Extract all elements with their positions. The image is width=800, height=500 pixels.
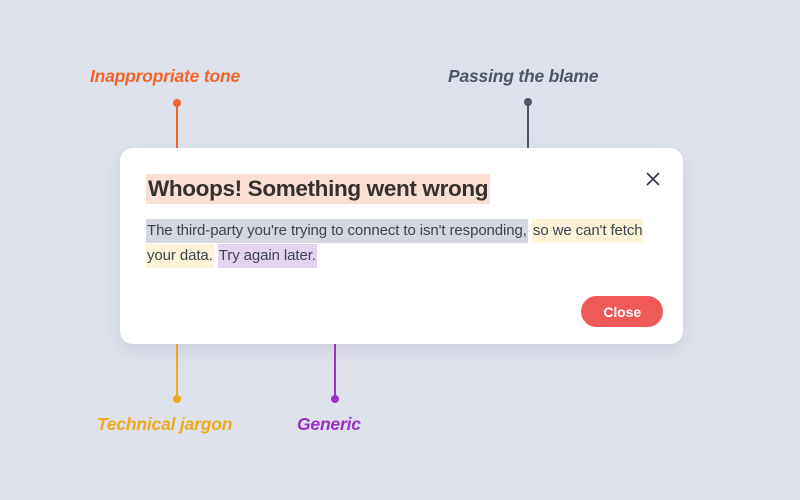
error-dialog-card: Whoops! Something went wrong The third-p… <box>120 148 683 344</box>
body-clause-slate: The third-party you're trying to connect… <box>146 219 528 243</box>
annotation-label-passing-the-blame: Passing the blame <box>448 66 598 87</box>
dialog-body: The third-party you're trying to connect… <box>146 218 656 268</box>
annotation-label-inappropriate-tone: Inappropriate tone <box>90 66 240 87</box>
annotation-label-generic: Generic <box>297 414 361 435</box>
dialog-title-text: Whoops! Something went wrong <box>146 174 490 204</box>
body-clause-purple: Try again later. <box>218 244 317 268</box>
connector-dot-top <box>173 99 181 107</box>
connector-dot-bottom <box>331 395 339 403</box>
annotated-dialog-illustration: Inappropriate tone Passing the blame Tec… <box>0 0 800 500</box>
close-x-icon[interactable] <box>642 168 664 190</box>
annotation-label-technical-jargon: Technical jargon <box>97 414 232 435</box>
connector-dot-bottom <box>173 395 181 403</box>
close-button[interactable]: Close <box>581 296 663 327</box>
connector-dot-top <box>524 98 532 106</box>
dialog-title: Whoops! Something went wrong <box>146 176 490 202</box>
